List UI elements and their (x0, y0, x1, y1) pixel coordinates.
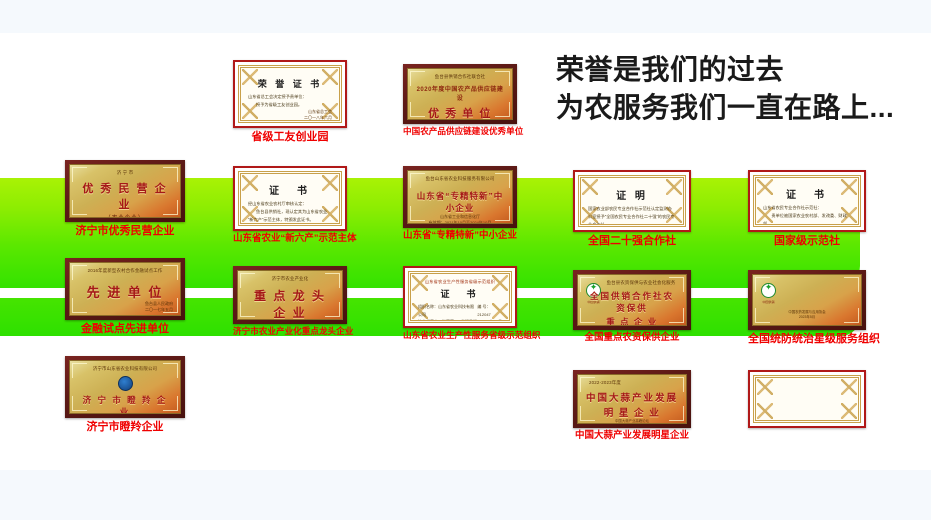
plaque-issuer: 山东省工业和信息化厅 有效期：2021年10月至2024年10月 (415, 214, 505, 224)
award-caption: 省级工友创业园 (233, 131, 347, 143)
cert-body-line: 国家农业部农民专业合作社示范社认定监测办 (588, 205, 676, 213)
honors-wall-page: 荣誉是我们的过去 为农服务我们一直在路上... 济 宁 市 优 秀 民 营 企 … (0, 0, 931, 520)
plaque-frame: 济宁市山东省农业科技有限公司 济 宁 市 瞪 羚 企 业 济宁市科学技术局 (65, 356, 185, 418)
award-item[interactable]: 济宁市山东省农业科技有限公司 济 宁 市 瞪 羚 企 业 济宁市科学技术局 济宁… (65, 356, 185, 433)
cert-body: 经山东省农业农村厅审核认定： 鱼台县供销社，现认定其为山东省农业 “新六产”示范… (248, 200, 332, 224)
plaque-subtitle: 重 点 企 业 (585, 316, 679, 326)
cert-body-line: 贵单位被国家农业农村部、发改委、财政部、 (763, 212, 851, 227)
plaque-title: 济 宁 市 瞪 羚 企 业 (77, 394, 173, 414)
gazelle-emblem-icon (118, 376, 133, 391)
headline-line-2: 为农服务我们一直在路上... (556, 90, 931, 126)
plaque-title: 重 点 龙 头 企 业 (245, 287, 335, 320)
award-caption: 中国农产品供应链建设优秀单位 (403, 127, 517, 136)
cert-body-line: 公室授予“全国农民专业合作社二十强”的农民专业合作社， (588, 213, 676, 227)
award-item[interactable]: 济 宁 市 优 秀 民 营 企 业 （农业企业） 中共济宁市委 济宁市人民政府 … (65, 160, 185, 237)
plaque-org: 鱼台县供销合作社联合社 (415, 74, 505, 80)
certificate-frame: 证 明 国家农业部农民专业合作社示范社认定监测办 公室授予“全国农民专业合作社二… (573, 170, 691, 232)
cert-issuer: 山东省总工会 二〇一八年六月 (248, 109, 332, 121)
award-caption: 全国重点农资保供企业 (573, 333, 691, 343)
plaque-title: 全国供销合作社农资保供 (585, 290, 679, 314)
plaque-org: 鱼台县农资保供与农业社会化服务 (585, 280, 679, 286)
cert-body: 国家农业部农民专业合作社示范社认定监测办 公室授予“全国农民专业合作社二十强”的… (588, 205, 676, 227)
award-caption: 中国大蒜产业发展明星企业 (573, 431, 691, 441)
plaque-org: 2022-2023年度 (585, 380, 679, 386)
plaque-org: 鱼台山东省农业科技服务有限公司 (415, 176, 505, 182)
plaque-frame: 济宁市农业产业化 重 点 龙 头 企 业 济宁市农业农村局 济宁市财政局 (233, 266, 347, 324)
cert-body: 山东省农民专业合作社示范社： 贵单位被国家农业农村部、发改委、财政部、 商务部、… (763, 204, 851, 227)
certificate-frame: 证 书 经山东省农业农村厅审核认定： 鱼台县供销社，现认定其为山东省农业 “新六… (233, 166, 347, 231)
award-item[interactable]: 证 书 山东省农民专业合作社示范社： 贵单位被国家农业农村部、发改委、财政部、 … (748, 170, 866, 247)
cert-title: 证 书 (763, 186, 851, 201)
plaque-frame: 鱼台山东省农业科技服务有限公司 山东省“专精特新”中小企业 山东省工业和信息化厅… (403, 166, 517, 228)
plaque-frame: 2016年度新型农村合作金融试点工作 先 进 单 位 鱼台县人民政府 二〇一七年… (65, 258, 185, 320)
cert-body-line: 山东省农民专业合作社示范社： (763, 204, 851, 212)
plaque-issuer: 中国大蒜产业高峰论坛 2023年6月 (585, 419, 679, 424)
plaque-frame: 中国供销 鱼台县农资保供与农业社会化服务 全国供销合作社农资保供 重 点 企 业… (573, 270, 691, 330)
cert-title: 证 明 (588, 187, 676, 202)
plaque-issuer: 鱼台县人民政府 二〇一七年五月 (77, 301, 173, 313)
plaque-subtitle: 明 星 企 业 (585, 405, 679, 419)
cert-body-line: 经山东省农业农村厅审核认定： (248, 200, 332, 208)
award-caption: 济宁市优秀民营企业 (65, 225, 185, 237)
award-caption: 山东省“专精特新”中小企业 (403, 231, 517, 241)
award-item[interactable]: 中国供销 鱼台县农资保供与农业社会化服务 全国供销合作社农资保供 重 点 企 业… (573, 270, 691, 343)
cert-body-line: 山东省总工会决定授予贵单位： (248, 93, 332, 101)
plaque-title: 山东省“专精特新”中小企业 (415, 190, 505, 214)
award-item[interactable]: 山东省农业生产性服务省级示范组织 证 书 组织名称：山东省农业科技有限公司 编 … (403, 266, 517, 340)
cert-body-line: 授予为省级工友创业园。 (248, 101, 332, 109)
plaque-org: 济 宁 市 (77, 170, 173, 176)
award-caption: 山东省农业生产性服务省级示范组织 (403, 331, 517, 340)
cert-body: 山东省总工会决定授予贵单位： 授予为省级工友创业园。 (248, 93, 332, 109)
award-item[interactable]: 2022-2023年度 中国大蒜产业发展 明 星 企 业 中国大蒜产业高峰论坛 … (573, 370, 691, 441)
plaque-title: 先 进 单 位 (77, 282, 173, 301)
award-caption: 济宁市瞪羚企业 (65, 421, 185, 433)
cert-field: 发证日期：2021年11月 (461, 318, 502, 323)
cert-field: 法定代表人：张某某 (418, 318, 454, 323)
cert-field: 组织名称：山东省农业科技有限公司 (418, 303, 477, 318)
plaque-org: 济宁市山东省农业科技有限公司 (77, 366, 173, 372)
certificate-frame: 山东省农业生产性服务省级示范组织 证 书 组织名称：山东省农业科技有限公司 编 … (403, 266, 517, 328)
plaque-title: 2020年度中国农产品供应链建设 (415, 84, 505, 102)
cert-issuer: 山东省农业农村厅 (248, 224, 332, 226)
award-item[interactable]: 鱼台县供销合作社联合社 2020年度中国农产品供应链建设 优 秀 单 位 全国供… (403, 64, 517, 136)
award-caption: 济宁市农业产业化重点龙头企业 (233, 327, 347, 336)
certificate-frame: 证 书 山东省农民专业合作社示范社： 贵单位被国家农业农村部、发改委、财政部、 … (748, 170, 866, 232)
cert-body-line: “新六产”示范主体，特颁发此证书。 (248, 216, 332, 224)
cert-title: 证 书 (248, 182, 332, 197)
plaque-frame: 济 宁 市 优 秀 民 营 企 业 （农业企业） 中共济宁市委 济宁市人民政府 … (65, 160, 185, 222)
award-item[interactable]: 鱼台山东省农业科技服务有限公司 山东省“专精特新”中小企业 山东省工业和信息化厅… (403, 166, 517, 241)
cert-field: 编 号：212047 (477, 303, 502, 318)
award-item[interactable]: 荣 誉 证 书 山东省总工会决定授予贵单位： 授予为省级工友创业园。 山东省总工… (233, 60, 347, 143)
plaque-title: 中国大蒜产业发展 (585, 390, 679, 404)
certificate-frame: 荣 誉 证 书 山东省总工会决定授予贵单位： 授予为省级工友创业园。 山东省总工… (233, 60, 347, 128)
award-item[interactable]: 济宁市农业产业化 重 点 龙 头 企 业 济宁市农业农村局 济宁市财政局 济宁市… (233, 266, 347, 336)
award-caption: 山东省农业“新六产”示范主体 (233, 234, 347, 244)
plaque-issuer: 中国农药发展与应用协会 2023年5月 (760, 310, 854, 320)
cert-header: 山东省农业生产性服务省级示范组织 (418, 279, 502, 285)
certificate-frame (748, 370, 866, 428)
award-item[interactable] (748, 370, 866, 431)
award-item[interactable]: 中国供销 中国农药发展与应用协会 2023年5月 全国统防统治星级服务组织 (748, 270, 866, 345)
plaque-title: 优 秀 民 营 企 业 (77, 180, 173, 212)
page-title: 荣誉是我们的过去 为农服务我们一直在路上... (556, 52, 931, 126)
plaque-subtitle: （农业企业） (77, 214, 173, 218)
award-item[interactable]: 2016年度新型农村合作金融试点工作 先 进 单 位 鱼台县人民政府 二〇一七年… (65, 258, 185, 335)
plaque-frame: 中国供销 中国农药发展与应用协会 2023年5月 (748, 270, 866, 330)
cert-body-line: 鱼台县供销社，现认定其为山东省农业 (248, 208, 332, 216)
plaque-frame: 鱼台县供销合作社联合社 2020年度中国农产品供应链建设 优 秀 单 位 全国供… (403, 64, 517, 124)
award-item[interactable]: 证 书 经山东省农业农村厅审核认定： 鱼台县供销社，现认定其为山东省农业 “新六… (233, 166, 347, 244)
award-caption: 全国二十强合作社 (573, 235, 691, 247)
gazelle-emblem-wrap (77, 375, 173, 393)
plaque-org: 济宁市农业产业化 (245, 276, 335, 282)
headline-line-1: 荣誉是我们的过去 (556, 52, 931, 88)
award-caption: 全国统防统治星级服务组织 (748, 333, 866, 345)
cert-title: 荣 誉 证 书 (248, 77, 332, 90)
award-item[interactable]: 证 明 国家农业部农民专业合作社示范社认定监测办 公室授予“全国农民专业合作社二… (573, 170, 691, 247)
plaque-subtitle: 优 秀 单 位 (415, 105, 505, 120)
cert-title: 证 书 (418, 287, 502, 300)
award-caption: 国家级示范社 (748, 235, 866, 247)
plaque-org: 2016年度新型农村合作金融试点工作 (77, 268, 173, 274)
plaque-frame: 2022-2023年度 中国大蒜产业发展 明 星 企 业 中国大蒜产业高峰论坛 … (573, 370, 691, 428)
award-caption: 金融试点先进单位 (65, 323, 185, 335)
cert-fields: 组织名称：山东省农业科技有限公司 编 号：212047 法定代表人：张某某 发证… (418, 303, 502, 323)
